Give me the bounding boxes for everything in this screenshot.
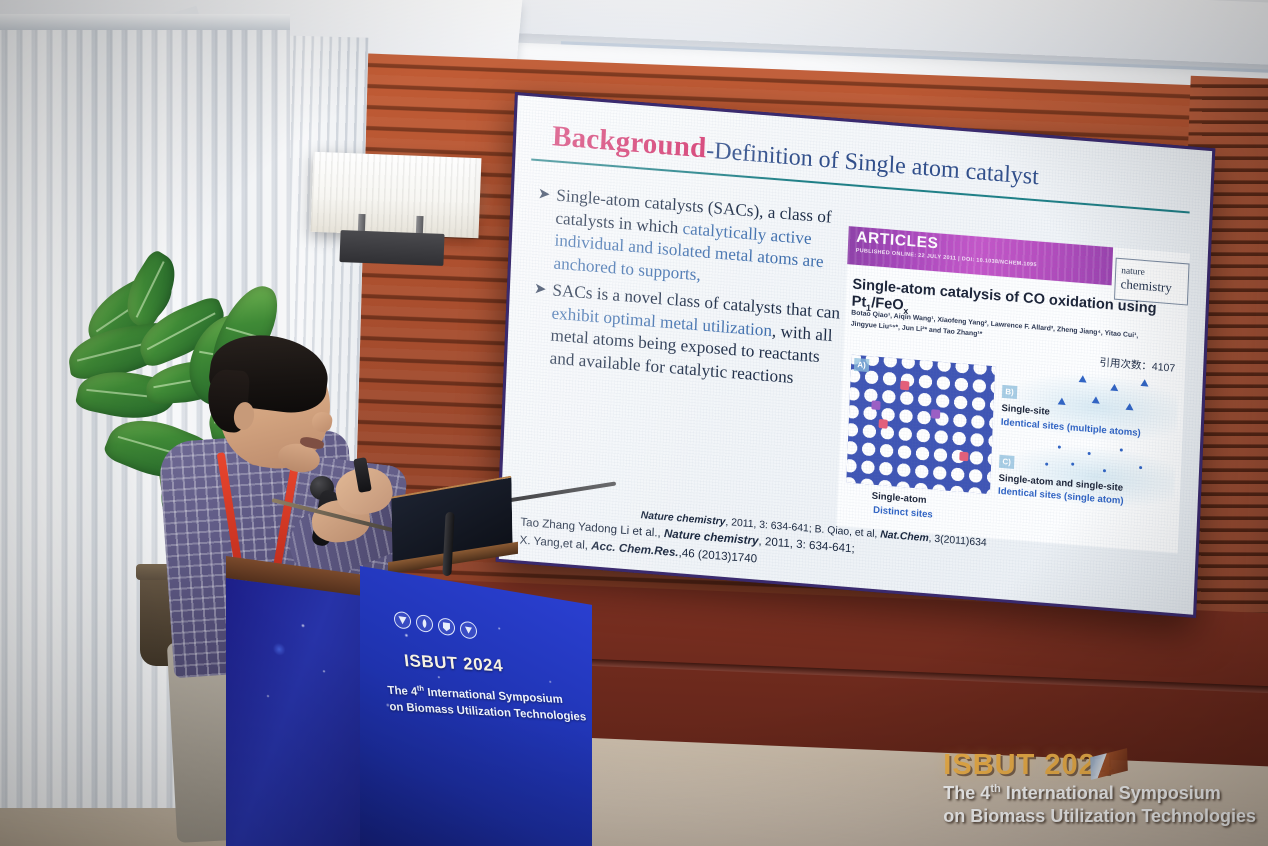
organization-logo-icon-4 [460,620,477,640]
organization-logo-icon-2 [416,614,433,634]
cluster-marker [1125,403,1133,411]
watermark-line1-post: International Symposium [1001,783,1221,803]
dopant-atom [871,400,880,410]
presentation-slide: Background-Definition of Single atom cat… [499,95,1212,614]
bullet-item: ➤ SACs is a novel class of catalysts tha… [531,278,842,393]
watermark-line1-sup: th [990,783,1000,795]
lattice-atom-grid [846,355,995,494]
article-figure: A) B) [841,354,1181,549]
panel-a-tag: A) [854,358,869,372]
bullet-text: Single-atom catalysts (SACs), a class of… [553,185,845,299]
figure-panel-c: C) Single-atom and single-site Identical… [998,439,1176,513]
bullet-text: SACs is a novel class of catalysts that … [549,279,841,393]
bullet-arrow-icon: ➤ [531,278,547,370]
dopant-atom [879,419,888,429]
slide-bullet-list: ➤ Single-atom catalysts (SACs), a class … [531,183,846,397]
slide-title-emphasis: Background [552,120,708,164]
podium-subtitle-pre: The 4 [387,685,418,699]
article-section-label: ARTICLES [856,229,939,254]
dopant-atom [900,381,909,391]
watermark-subtitle-line1: The 4th International Symposium [943,782,1256,805]
article-header-banner: ARTICLES PUBLISHED ONLINE: 22 JULY 2011 … [847,226,1113,285]
podium-event-subtitle: The 4th International Symposium on Bioma… [387,682,587,727]
organization-logo-icon-3 [438,617,455,637]
citation-count-value: 4107 [1152,361,1176,375]
watermark-subtitle-line2: on Biomass Utilization Technologies [943,805,1256,828]
journal-article-screenshot: ARTICLES PUBLISHED ONLINE: 22 JULY 2011 … [836,226,1189,553]
reference-authors-2: X. Yang,et al, [519,533,591,552]
article-published-line: PUBLISHED ONLINE: 22 JULY 2011 | DOI: 10… [856,248,1037,269]
figure-panel-b: B) Single-site Identical sites (multiple… [1000,367,1178,447]
cluster-marker [1140,379,1148,387]
watermark-subtitle: The 4th International Symposium on Bioma… [943,782,1256,828]
citation-count-label: 引用次数： [1099,357,1152,373]
citation-count-annotation: 引用次数：4107 [1099,355,1175,376]
panel-c-tag: C) [999,455,1014,469]
reference-journal-2: Nat.Chem [880,529,929,544]
podium-event-title: ISBUT 2024 [403,651,504,677]
figure-panel-a-lattice: A) [846,355,995,494]
cluster-marker [1110,384,1118,392]
cluster-marker [1058,397,1066,405]
podium-side-panel [226,578,366,846]
podium-logo-row [394,610,477,639]
bullet-arrow-icon: ➤ [535,183,551,275]
organization-logo-icon-1 [394,610,411,630]
dopant-atom [959,452,968,462]
podium-front-panel: ISBUT 2024 The 4th International Symposi… [360,566,592,846]
dopant-atom [931,409,940,419]
panel-b-tag: B) [1002,385,1017,399]
wall-sconce-mount-plate [339,230,444,266]
watermark-line1-pre: The 4 [943,783,990,803]
wall-sconce-shade [311,152,482,238]
cluster-marker [1092,396,1100,404]
cluster-marker [1079,375,1087,383]
event-watermark: ISBUT 2024 The 4th International Symposi… [943,749,1256,828]
slide-title-rest: -Definition of Single atom catalyst [706,138,1040,191]
projection-screen: Background-Definition of Single atom cat… [496,92,1216,618]
curtain-rod [0,14,290,30]
reference-top-plain-2: , 3(2011)634 [928,533,986,549]
reference-tail-2: ,46 (2013)1740 [678,546,757,565]
conference-photo-scene: Background-Definition of Single atom cat… [0,0,1268,846]
